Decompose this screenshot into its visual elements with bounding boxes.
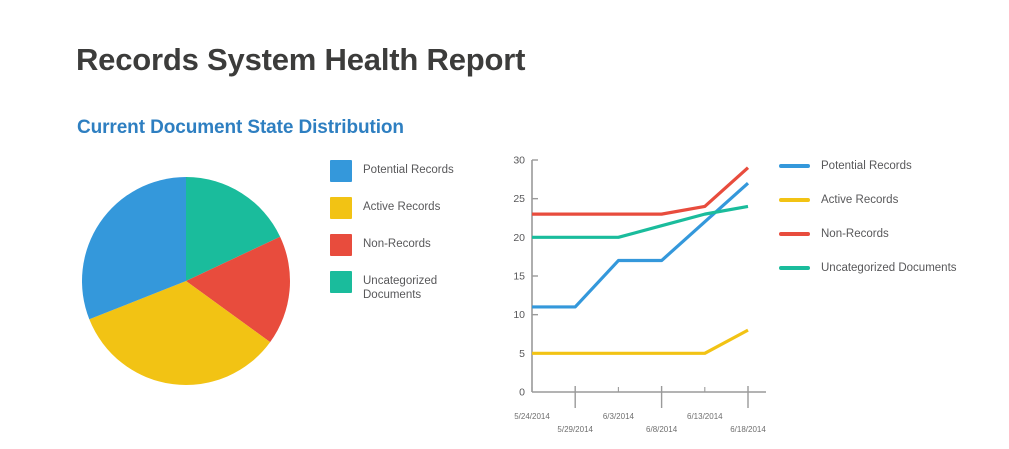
y-axis-tick-label: 30: [513, 155, 525, 167]
line-series[interactable]: [532, 168, 748, 214]
legend-item[interactable]: Active Records: [779, 193, 979, 211]
legend-item-label: Uncategorized Documents: [363, 271, 473, 302]
y-axis-tick-label: 15: [513, 271, 525, 283]
line-series[interactable]: [532, 330, 748, 353]
legend-item-label: Potential Records: [363, 160, 454, 177]
legend-item[interactable]: Uncategorized Documents: [330, 271, 490, 302]
section-title: Current Document State Distribution: [77, 117, 404, 139]
legend-line-icon: [779, 198, 810, 202]
legend-item-label: Uncategorized Documents: [821, 261, 957, 275]
legend-item[interactable]: Uncategorized Documents: [779, 261, 979, 279]
line-chart-legend: Potential RecordsActive RecordsNon-Recor…: [779, 159, 979, 295]
y-axis-tick-label: 10: [513, 309, 525, 321]
legend-item[interactable]: Potential Records: [779, 159, 979, 177]
y-axis-tick-label: 25: [513, 193, 525, 205]
legend-item[interactable]: Non-Records: [779, 227, 979, 245]
pie-chart-legend: Potential RecordsActive RecordsNon-Recor…: [330, 160, 490, 317]
line-series[interactable]: [532, 206, 748, 237]
page-title: Records System Health Report: [76, 42, 525, 78]
legend-item-label: Active Records: [363, 197, 440, 214]
legend-line-icon: [779, 164, 810, 168]
x-axis-tick-label: 6/18/2014: [730, 425, 766, 434]
legend-item-label: Potential Records: [821, 159, 912, 173]
legend-item[interactable]: Active Records: [330, 197, 490, 219]
legend-line-icon: [779, 266, 810, 270]
legend-line-icon: [779, 232, 810, 236]
line-chart: 0510152025305/24/20145/29/20146/3/20146/…: [496, 150, 776, 440]
x-axis-tick-label: 5/29/2014: [557, 425, 593, 434]
legend-swatch-icon: [330, 160, 352, 182]
legend-item-label: Active Records: [821, 193, 898, 207]
y-axis-tick-label: 5: [519, 348, 525, 360]
x-axis-tick-label: 6/3/2014: [603, 412, 635, 421]
legend-swatch-icon: [330, 197, 352, 219]
legend-item[interactable]: Non-Records: [330, 234, 490, 256]
legend-item-label: Non-Records: [821, 227, 889, 241]
x-axis-tick-label: 5/24/2014: [514, 412, 550, 421]
x-axis-tick-label: 6/8/2014: [646, 425, 678, 434]
y-axis-tick-label: 0: [519, 387, 525, 399]
pie-chart: [70, 160, 300, 400]
legend-swatch-icon: [330, 234, 352, 256]
legend-item[interactable]: Potential Records: [330, 160, 490, 182]
legend-item-label: Non-Records: [363, 234, 431, 251]
x-axis-tick-label: 6/13/2014: [687, 412, 723, 421]
line-chart-panel: 0510152025305/24/20145/29/20146/3/20146/…: [496, 150, 996, 440]
y-axis-tick-label: 20: [513, 232, 525, 244]
line-series[interactable]: [532, 183, 748, 307]
pie-chart-panel: Potential RecordsActive RecordsNon-Recor…: [70, 160, 490, 400]
report-canvas: Records System Health Report Current Doc…: [0, 0, 1009, 449]
legend-swatch-icon: [330, 271, 352, 293]
